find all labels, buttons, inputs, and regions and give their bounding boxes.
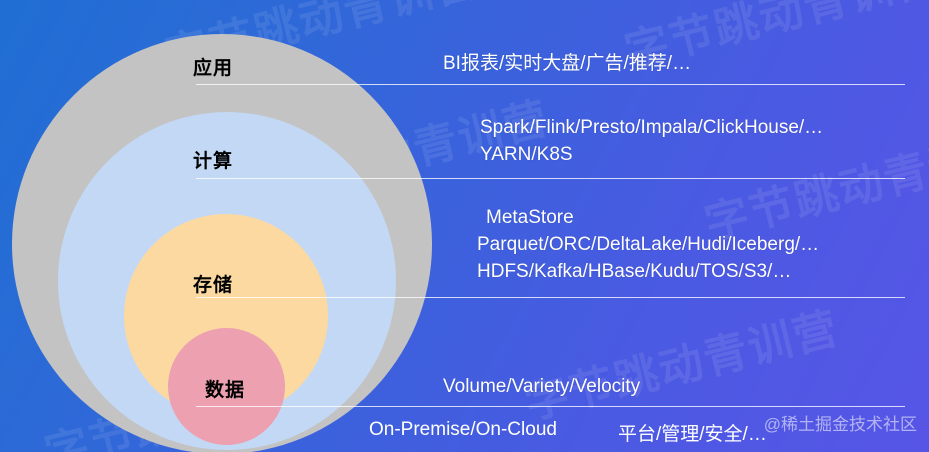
tech-line: Volume/Variety/Velocity bbox=[443, 373, 640, 400]
layer-label-application: 应用 bbox=[193, 53, 233, 80]
layer-divider-application bbox=[196, 84, 905, 85]
slide-canvas: 字节跳动青训营 字节跳动青训营 字节跳动青训营 字节跳动青训营 字节跳动青训营 … bbox=[0, 0, 929, 452]
layer-label-storage: 存储 bbox=[193, 270, 233, 297]
layer-divider-compute bbox=[196, 178, 905, 179]
layer-divider-storage bbox=[196, 297, 905, 298]
layer-label-compute: 计算 bbox=[193, 146, 233, 173]
layer-divider-data bbox=[196, 406, 905, 407]
tech-line: BI报表/实时大盘/广告/推荐/… bbox=[443, 50, 691, 77]
tech-line: MetaStore bbox=[477, 204, 819, 231]
tech-line: HDFS/Kafka/HBase/Kudu/TOS/S3/… bbox=[477, 258, 819, 285]
tech-list-storage: MetaStore Parquet/ORC/DeltaLake/Hudi/Ice… bbox=[477, 204, 819, 285]
tech-list-data: Volume/Variety/Velocity bbox=[443, 373, 640, 400]
tech-line: Spark/Flink/Presto/Impala/ClickHouse/… bbox=[480, 114, 823, 141]
tech-line: YARN/K8S bbox=[480, 141, 823, 168]
tech-list-compute: Spark/Flink/Presto/Impala/ClickHouse/… Y… bbox=[480, 114, 823, 168]
layer-label-data: 数据 bbox=[205, 375, 245, 402]
governance-text: 平台/管理/安全/… bbox=[618, 419, 767, 446]
deployment-model-text: On-Premise/On-Cloud bbox=[369, 419, 557, 441]
tech-line: Parquet/ORC/DeltaLake/Hudi/Iceberg/… bbox=[477, 231, 819, 258]
community-watermark: @稀土掘金技术社区 bbox=[764, 410, 917, 435]
tech-list-application: BI报表/实时大盘/广告/推荐/… bbox=[443, 50, 691, 77]
